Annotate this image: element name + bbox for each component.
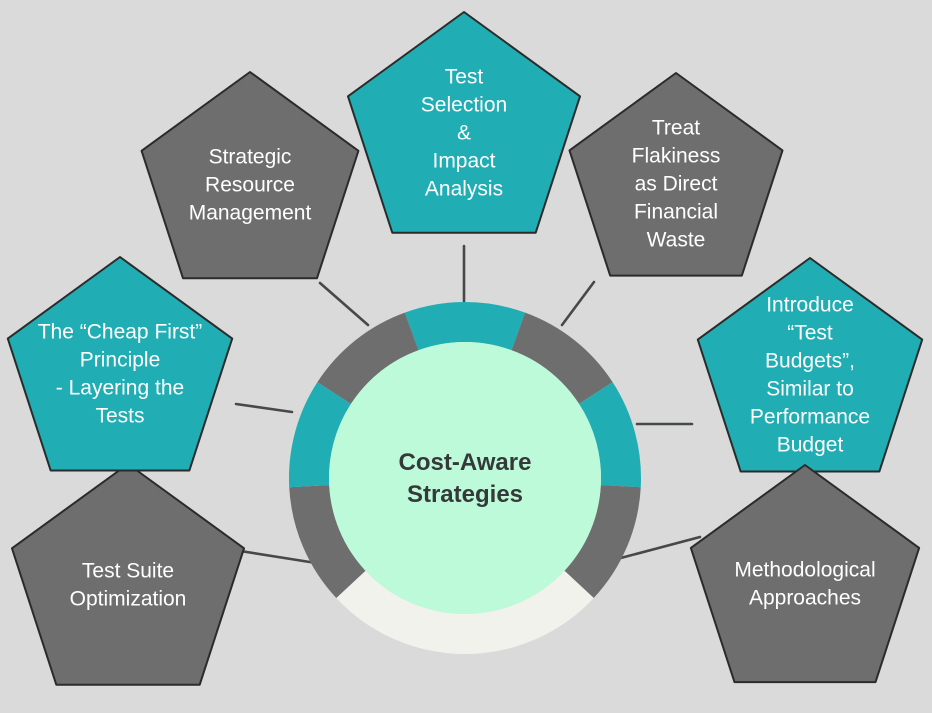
- label-introduce-test-budgets-line-3: Budgets”,: [765, 350, 855, 373]
- label-treat-flakiness-financial-waste-line-5: Waste: [647, 228, 706, 251]
- label-cheap-first-principle-line-3: - Layering the: [56, 377, 184, 400]
- label-cheap-first-principle-line-1: The “Cheap First”: [38, 321, 203, 344]
- label-introduce-test-budgets-line-2: “Test: [787, 322, 833, 345]
- node-strategic-resource-management[interactable]: StrategicResourceManagement: [142, 72, 359, 278]
- label-strategic-resource-management-line-1: Strategic: [209, 146, 292, 169]
- label-test-suite-optimization-line-1: Test Suite: [82, 560, 174, 583]
- label-cheap-first-principle-line-2: Principle: [80, 349, 161, 372]
- label-test-selection-impact-analysis-line-5: Analysis: [425, 177, 503, 200]
- label-test-selection-impact-analysis-line-4: Impact: [432, 149, 495, 172]
- node-the-cheap-first-principle-layering-the-tests[interactable]: The “Cheap First”Principle- Layering the…: [8, 257, 232, 470]
- node-test-selection-impact-analysis[interactable]: TestSelection&ImpactAnalysis: [348, 12, 580, 233]
- label-test-selection-impact-analysis-line-2: Selection: [421, 94, 507, 117]
- label-introduce-test-budgets-line-1: Introduce: [766, 294, 854, 317]
- label-methodological-approaches-line-1: Methodological: [734, 559, 875, 582]
- hub-title-line-2: Strategies: [407, 481, 523, 508]
- connector-cheap-first-principle: [236, 404, 292, 412]
- hub-core-circle: [329, 342, 601, 614]
- label-introduce-test-budgets-line-4: Similar to: [766, 378, 854, 401]
- hub-and-spoke-diagram: Cost-AwareStrategies TestSelection&Impac…: [0, 0, 932, 713]
- diagram-canvas: Cost-AwareStrategies TestSelection&Impac…: [0, 0, 932, 713]
- connector-treat-flakiness-financial-waste: [562, 282, 594, 325]
- label-strategic-resource-management-line-2: Resource: [205, 174, 295, 197]
- label-treat-flakiness-financial-waste-line-4: Financial: [634, 200, 718, 223]
- label-treat-flakiness-financial-waste-line-2: Flakiness: [632, 145, 721, 168]
- label-test-selection-impact-analysis-line-1: Test: [445, 66, 484, 89]
- label-cheap-first-principle-line-4: Tests: [95, 404, 144, 427]
- node-methodological-approaches[interactable]: MethodologicalApproaches: [691, 465, 919, 682]
- label-introduce-test-budgets-line-6: Budget: [777, 433, 844, 456]
- connector-strategic-resource-management: [320, 283, 368, 325]
- central-hub: Cost-AwareStrategies: [289, 302, 641, 654]
- label-strategic-resource-management-line-3: Management: [189, 201, 312, 224]
- hub-title-line-1: Cost-Aware: [399, 449, 532, 476]
- node-treat-flakiness-as-direct-financial-waste[interactable]: TreatFlakinessas DirectFinancialWaste: [569, 73, 782, 276]
- label-treat-flakiness-financial-waste-line-3: as Direct: [635, 173, 718, 196]
- node-test-suite-optimization[interactable]: Test SuiteOptimization: [12, 464, 244, 685]
- label-treat-flakiness-financial-waste-line-1: Treat: [652, 117, 700, 140]
- label-test-selection-impact-analysis-line-3: &: [457, 122, 471, 145]
- label-test-suite-optimization-line-2: Optimization: [70, 588, 187, 611]
- label-introduce-test-budgets-line-5: Performance: [750, 405, 870, 428]
- node-introduce-test-budgets-similar-to-performance-budget[interactable]: Introduce“TestBudgets”,Similar toPerform…: [698, 258, 922, 471]
- label-methodological-approaches-line-2: Approaches: [749, 587, 861, 610]
